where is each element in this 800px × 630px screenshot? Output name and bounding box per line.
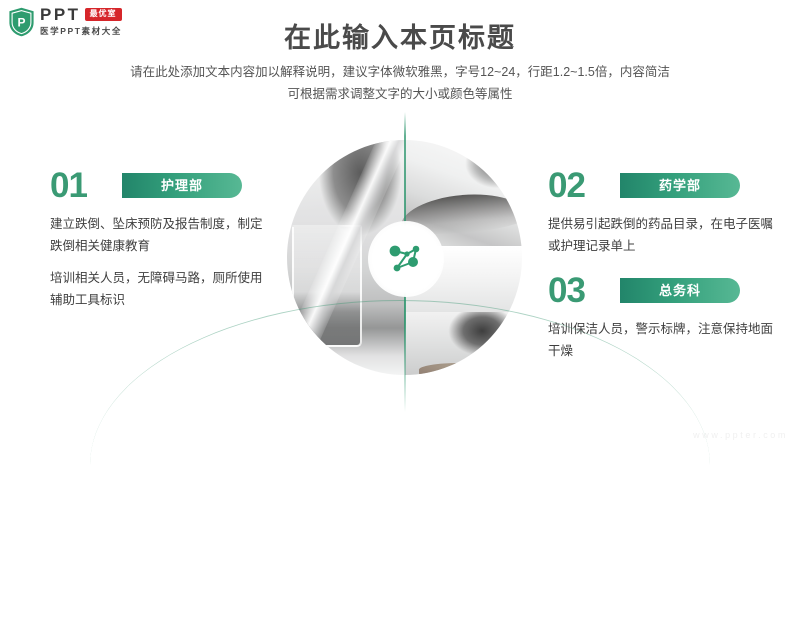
block-02-label-pill: 药学部 [620,173,740,198]
content-block-01: 01 护理部 建立跌倒、坠床预防及报告制度，制定跌倒相关健康教育 培训相关人员，… [50,168,265,311]
subtitle-line-1: 请在此处添加文本内容加以解释说明，建议字体微软雅黑，字号12~24，行距1.2~… [0,62,800,84]
block-02-number: 02 [548,168,585,203]
block-01-number: 01 [50,168,87,203]
block-02-paragraph-1: 提供易引起跌倒的药品目录，在电子医嘱或护理记录单上 [548,214,773,257]
block-01-paragraph-2: 培训相关人员，无障碍马路，厕所使用辅助工具标识 [50,268,265,311]
content-block-03: 03 总务科 培训保洁人员，警示标牌，注意保持地面干燥 [548,273,773,362]
block-02-header: 02 药学部 [548,168,773,208]
watermark: www.ppter.com [693,430,788,440]
block-03-header: 03 总务科 [548,273,773,313]
block-01-header: 01 护理部 [50,168,265,208]
block-01-paragraph-1: 建立跌倒、坠床预防及报告制度，制定跌倒相关健康教育 [50,214,265,257]
network-molecule-icon [368,221,444,297]
page-title: 在此输入本页标题 [0,16,800,55]
subtitle-line-2: 可根据需求调整文字的大小或颜色等属性 [0,84,800,106]
page-subtitle: 请在此处添加文本内容加以解释说明，建议字体微软雅黑，字号12~24，行距1.2~… [0,62,800,106]
block-01-label-pill: 护理部 [122,173,242,198]
block-03-paragraph-1: 培训保洁人员，警示标牌，注意保持地面干燥 [548,319,773,362]
block-03-number: 03 [548,273,585,308]
content-block-02: 02 药学部 提供易引起跌倒的药品目录，在电子医嘱或护理记录单上 [548,168,773,257]
block-03-label-pill: 总务科 [620,278,740,303]
